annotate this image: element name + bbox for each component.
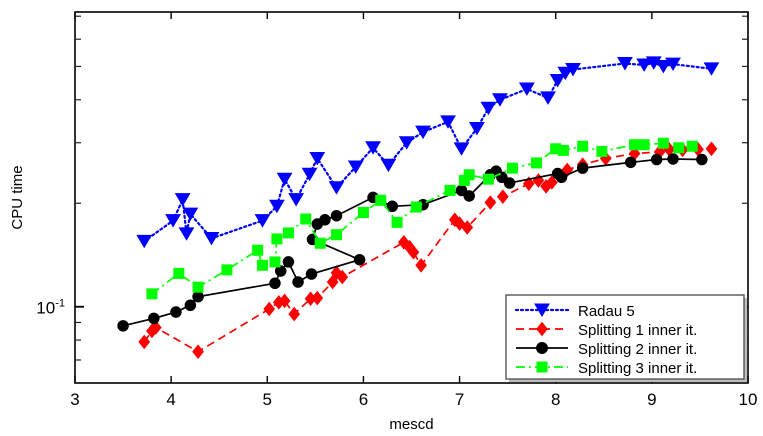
marker-square xyxy=(687,141,697,151)
marker-circle xyxy=(306,269,317,280)
marker-square xyxy=(464,170,474,180)
marker-square xyxy=(193,282,203,292)
marker-circle xyxy=(293,277,304,288)
marker-circle xyxy=(185,300,196,311)
marker-square xyxy=(558,145,568,155)
legend[interactable]: Radau 5Splitting 1 inner it.Splitting 2 … xyxy=(506,295,747,382)
marker-circle xyxy=(625,157,636,168)
marker-circle xyxy=(697,154,708,165)
marker-square xyxy=(283,228,293,238)
marker-square xyxy=(147,289,157,299)
x-tick-label-9: 9 xyxy=(647,390,656,409)
marker-square xyxy=(507,163,517,173)
marker-circle xyxy=(651,154,662,165)
chart-svg: 34567891010-1mescdCPU timeRadau 5Splitti… xyxy=(0,0,763,436)
x-tick-label-7: 7 xyxy=(455,390,464,409)
legend-label-3: Splitting 2 inner it. xyxy=(578,341,697,358)
marker-square xyxy=(578,141,588,151)
marker-square xyxy=(222,265,232,275)
x-tick-label-10: 10 xyxy=(739,390,758,409)
marker-square xyxy=(358,207,368,217)
marker-circle xyxy=(354,254,365,265)
marker-square xyxy=(174,268,184,278)
marker-circle xyxy=(118,321,129,332)
marker-square xyxy=(630,140,640,150)
legend-label-2: Splitting 1 inner it. xyxy=(578,322,697,339)
marker-square xyxy=(376,195,386,205)
x-tick-label-3: 3 xyxy=(70,390,79,409)
x-tick-label-6: 6 xyxy=(359,390,368,409)
marker-square xyxy=(270,257,280,267)
marker-circle xyxy=(668,154,679,165)
marker-square xyxy=(597,146,607,156)
marker-square xyxy=(658,138,668,148)
marker-square xyxy=(257,260,267,270)
marker-square xyxy=(411,202,421,212)
marker-circle xyxy=(537,343,548,354)
marker-circle xyxy=(464,191,475,202)
marker-square xyxy=(483,174,493,184)
legend-label-1: Radau 5 xyxy=(578,303,635,320)
marker-square xyxy=(674,143,684,153)
x-tick-label-4: 4 xyxy=(166,390,175,409)
x-tick-label-5: 5 xyxy=(263,390,272,409)
marker-circle xyxy=(270,278,281,289)
marker-square xyxy=(332,230,342,240)
y-axis-title: CPU time xyxy=(9,165,26,229)
marker-circle xyxy=(504,178,514,189)
marker-circle xyxy=(577,163,588,174)
marker-circle xyxy=(556,172,567,183)
legend-label-4: Splitting 3 inner it. xyxy=(578,360,697,377)
marker-square xyxy=(301,214,311,224)
marker-circle xyxy=(193,291,204,302)
marker-circle xyxy=(149,313,160,324)
marker-square xyxy=(392,217,402,227)
marker-square xyxy=(253,245,263,255)
x-tick-label-8: 8 xyxy=(551,390,560,409)
marker-circle xyxy=(320,215,331,226)
x-axis-title: mescd xyxy=(389,416,433,433)
marker-square xyxy=(537,362,547,372)
marker-circle xyxy=(283,257,294,268)
marker-circle xyxy=(171,307,182,318)
marker-square xyxy=(531,158,541,168)
chart-container: 34567891010-1mescdCPU timeRadau 5Splitti… xyxy=(0,0,763,436)
marker-square xyxy=(272,234,282,244)
y-tick-label: 10-1 xyxy=(36,298,65,318)
marker-square xyxy=(639,140,649,150)
marker-square xyxy=(445,185,455,195)
marker-circle xyxy=(331,210,342,221)
marker-square xyxy=(315,238,325,248)
